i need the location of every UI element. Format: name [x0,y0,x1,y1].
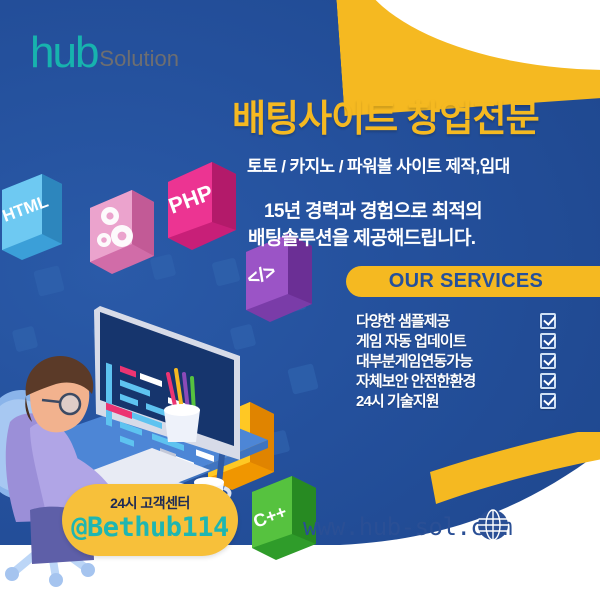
checkbox-checked-icon [540,353,556,369]
pitch-line-2: 배팅솔루션을 제공해드립니다. [248,225,594,252]
customer-center-label: 24시 고객센터 [62,493,238,513]
service-item: 다양한 샘플제공 [356,311,556,330]
service-item: 게임 자동 업데이트 [356,331,556,350]
page-subtitle: 토토 / 카지노 / 파워볼 사이트 제작,임대 [247,152,597,177]
logo-mark: hub [30,33,97,73]
promotional-banner: HTML PHP [0,0,600,600]
service-label: 게임 자동 업데이트 [356,330,466,351]
service-item: 대부분게임연동가능 [356,351,556,370]
tech-card-gears [90,190,154,274]
messenger-handle[interactable]: @Bethub114 [62,512,238,543]
checkbox-checked-icon [540,333,556,349]
checkbox-checked-icon [540,373,556,389]
services-list: 다양한 샘플제공 게임 자동 업데이트 대부분게임연동가능 자체보안 안전한환경… [356,311,556,411]
service-label: 24시 기술지원 [356,390,439,411]
service-label: 다양한 샘플제공 [356,310,450,331]
checkbox-checked-icon [540,393,556,409]
tech-card-html: HTML [0,174,62,260]
globe-icon [477,509,509,541]
services-banner-label: OUR SERVICES [389,270,557,293]
service-item: 24시 기술지원 [356,391,556,410]
page-title: 배팅사이트 창업전문 [232,88,592,142]
service-item: 자체보안 안전한환경 [356,371,556,390]
logo-wordmark: Solution [99,48,179,70]
pitch-text: 15년 경력과 경험으로 최적의 배팅솔루션을 제공해드립니다. [264,198,594,252]
service-label: 자체보안 안전한환경 [356,370,475,391]
checkbox-checked-icon [540,313,556,329]
service-label: 대부분게임연동가능 [356,350,472,371]
pitch-line-1: 15년 경력과 경험으로 최적의 [264,198,594,225]
contact-pill[interactable]: 24시 고객센터 @Bethub114 [62,484,238,556]
tech-card-php: PHP [165,162,236,250]
services-banner: OUR SERVICES [346,266,600,297]
brand-logo[interactable]: hub Solution [30,33,179,73]
